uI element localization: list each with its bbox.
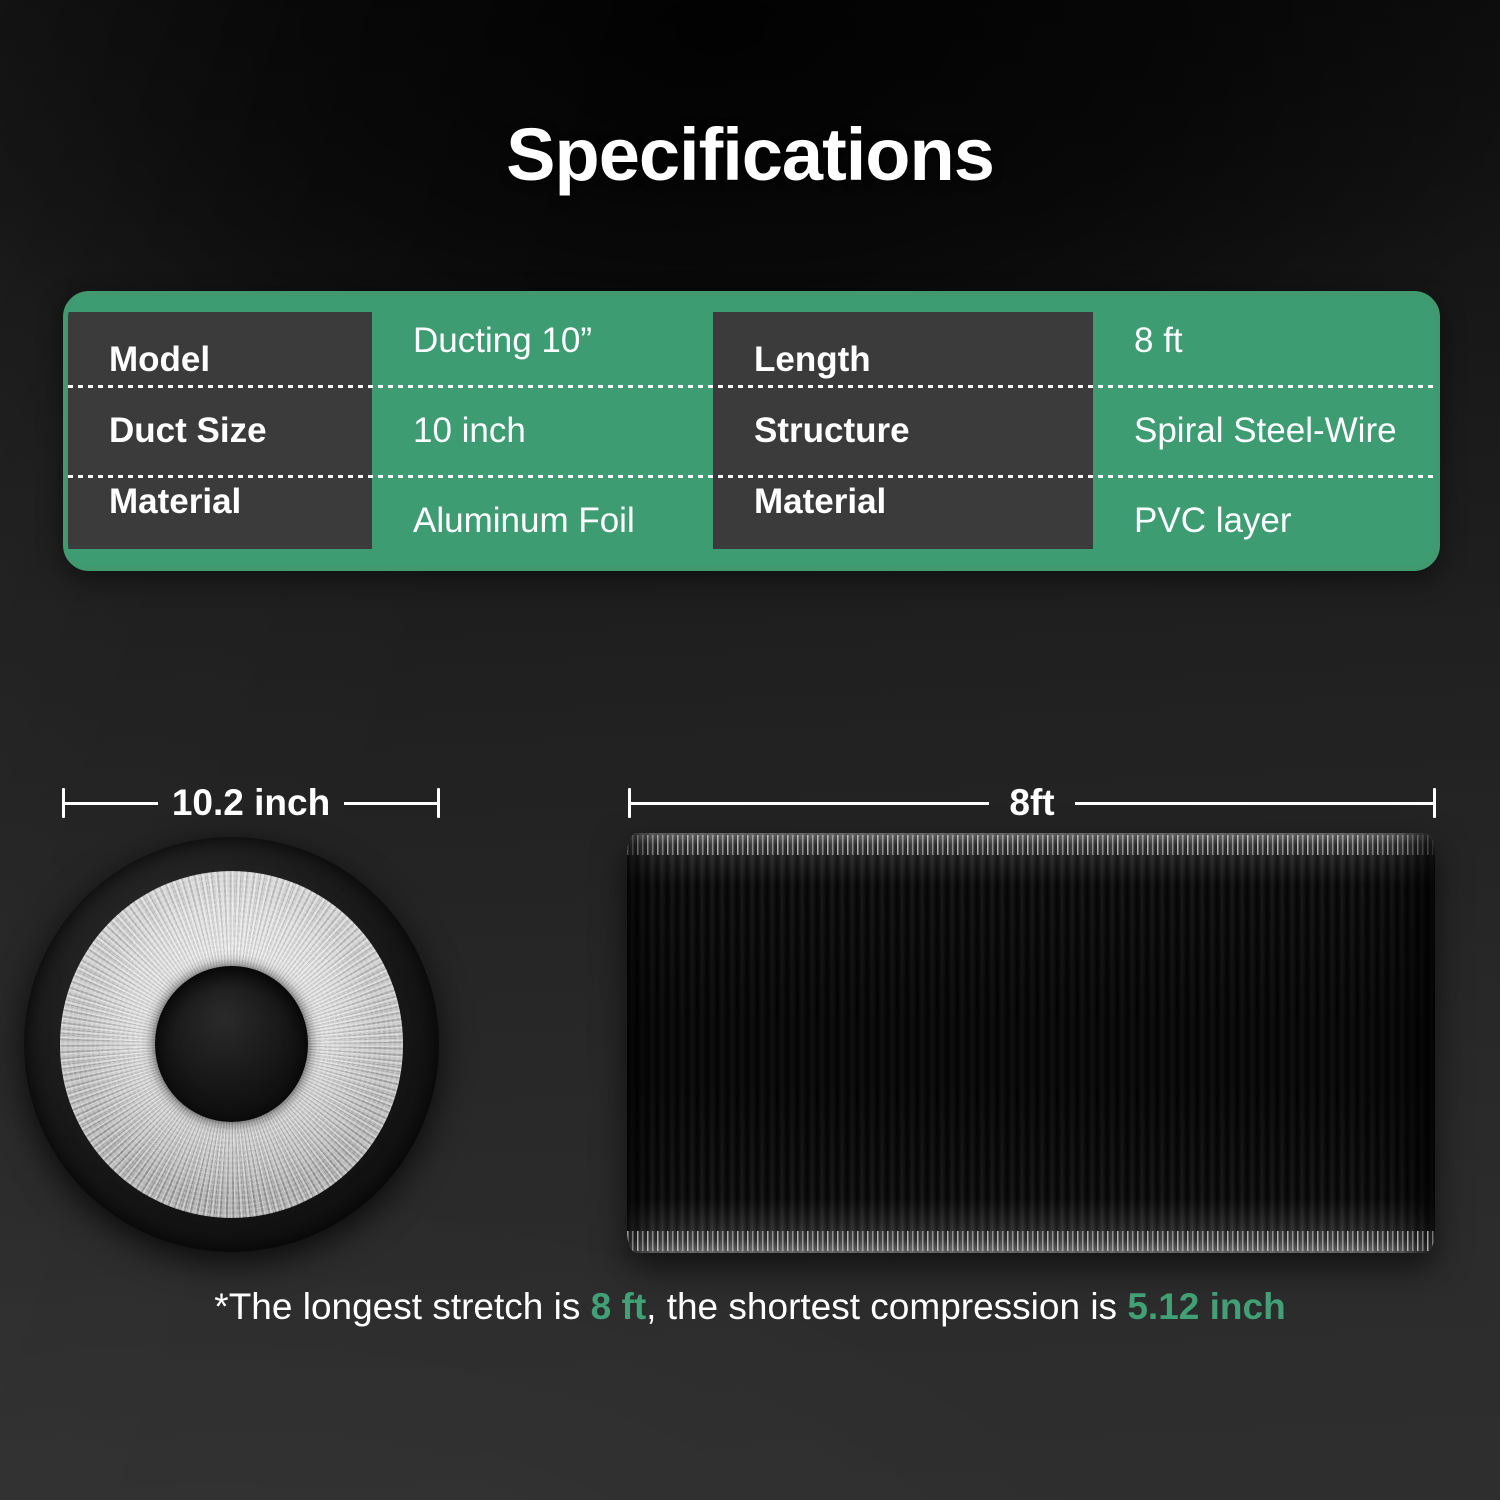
dimension-length-label: 8ft	[989, 782, 1074, 824]
spec-value-duct-size: 10 inch	[372, 386, 713, 476]
spec-value-length: 8 ft	[1093, 296, 1435, 386]
duct-inner-bore	[155, 966, 308, 1121]
table-row: Duct Size 10 inch Structure Spiral Steel…	[68, 386, 1435, 476]
spec-label-length: Length	[713, 312, 1093, 386]
duct-tube-shading	[627, 833, 1435, 1253]
specifications-table: Model Ducting 10” Length 8 ft Duct Size …	[63, 291, 1440, 571]
spec-label-duct-size: Duct Size	[68, 386, 372, 476]
footnote-part-1: *The longest stretch is	[214, 1286, 590, 1327]
dimension-end-cap-right	[437, 788, 440, 818]
spec-value-material-foil: Aluminum Foil	[372, 476, 713, 566]
spec-value-material-pvc: PVC layer	[1093, 476, 1435, 566]
dimension-line-left	[65, 802, 158, 805]
footnote-highlight-stretch: 8 ft	[591, 1286, 647, 1327]
dimension-length: 8ft	[628, 783, 1436, 823]
dimension-diameter-label: 10.2 inch	[158, 782, 344, 824]
spec-value-model: Ducting 10”	[372, 296, 713, 386]
dimension-line-left	[631, 802, 989, 805]
dimension-diameter: 10.2 inch	[62, 783, 440, 823]
dimension-line-right	[1075, 802, 1433, 805]
specifications-page: Specifications Model Ducting 10” Length …	[0, 0, 1500, 1500]
spec-label-structure: Structure	[713, 386, 1093, 476]
footnote-note: *The longest stretch is 8 ft, the shorte…	[0, 1286, 1500, 1328]
spec-value-structure: Spiral Steel-Wire	[1093, 386, 1435, 476]
spec-label-material-pvc: Material	[713, 476, 1093, 549]
table-row: Model Ducting 10” Length 8 ft	[68, 296, 1435, 386]
table-row: Material Aluminum Foil Material PVC laye…	[68, 476, 1435, 566]
footnote-part-2: , the shortest compression is	[646, 1286, 1127, 1327]
spec-label-model: Model	[68, 312, 372, 386]
dimension-line-right	[344, 802, 437, 805]
spec-label-material-foil: Material	[68, 476, 372, 549]
duct-cross-section-image	[24, 837, 439, 1252]
flexible-duct-tube-image	[627, 833, 1435, 1253]
dimension-end-cap-right	[1433, 788, 1436, 818]
page-title: Specifications	[0, 112, 1500, 197]
footnote-highlight-compression: 5.12 inch	[1127, 1286, 1285, 1327]
